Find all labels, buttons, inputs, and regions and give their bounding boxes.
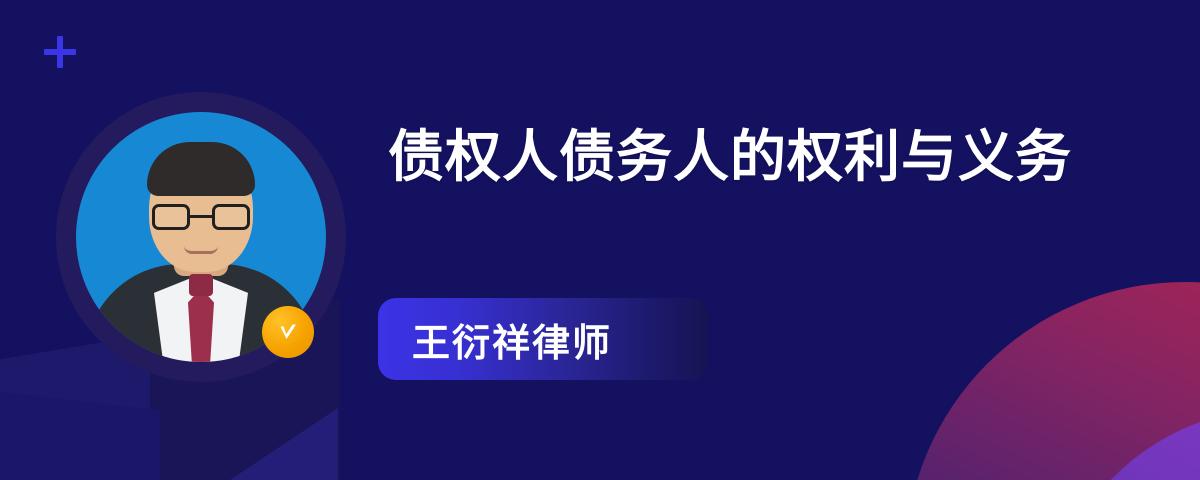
glasses-bridge bbox=[190, 215, 212, 218]
gradient-arc-inner bbox=[1045, 408, 1200, 480]
author-name-badge[interactable]: 王衍祥律师 bbox=[378, 298, 708, 380]
portrait-hair bbox=[147, 142, 255, 196]
article-banner: 债权人债务人的权利与义务 王衍祥律师 bbox=[0, 0, 1200, 480]
page-title: 债权人债务人的权利与义务 bbox=[388, 118, 1078, 198]
avatar[interactable] bbox=[56, 92, 346, 382]
portrait-mouth bbox=[184, 246, 218, 254]
headline-block: 债权人债务人的权利与义务 bbox=[388, 118, 1078, 198]
glasses-lens-left bbox=[152, 204, 190, 230]
portrait-glasses bbox=[152, 204, 250, 230]
plus-icon bbox=[44, 36, 76, 68]
gradient-arc-outer bbox=[905, 282, 1200, 480]
portrait-necktie bbox=[188, 288, 214, 362]
polygon-facet-c bbox=[188, 408, 338, 480]
polygon-facet-d bbox=[0, 392, 160, 480]
author-name-label: 王衍祥律师 bbox=[412, 312, 612, 367]
verified-badge-icon bbox=[262, 306, 314, 358]
portrait-tie-knot bbox=[189, 274, 213, 296]
glasses-lens-right bbox=[212, 204, 250, 230]
